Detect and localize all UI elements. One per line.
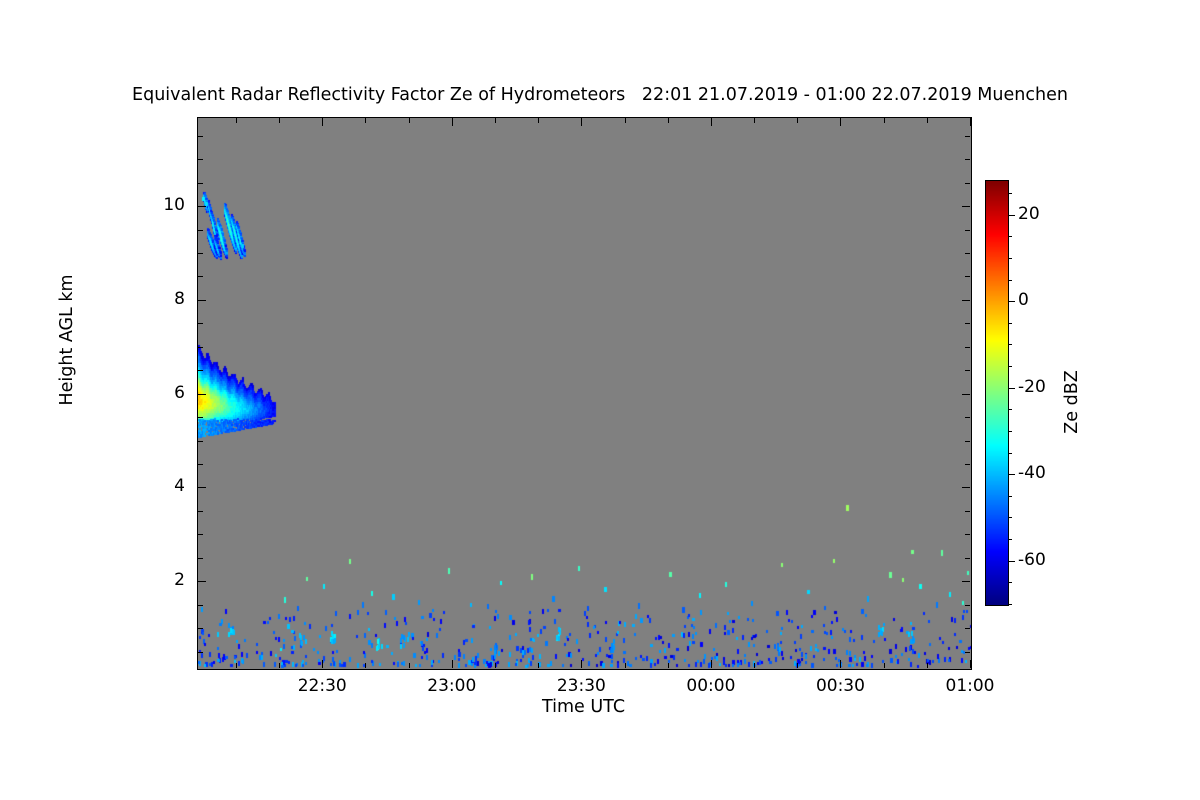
y-tick-minor-right [965,511,970,512]
colorbar-tick-minor [1008,409,1012,410]
x-tick-minor [495,663,496,668]
y-tick-minor [198,230,203,231]
colorbar-tick-minor [1008,366,1012,367]
colorbar-tick-major [1008,215,1015,216]
y-tick-minor-right [965,605,970,606]
x-tick-major-top [970,118,971,126]
colorbar-tick-minor [1008,280,1012,281]
colorbar-tick-major [1008,388,1015,389]
y-tick-label: 4 [5,476,185,496]
y-tick-minor [198,347,203,348]
x-axis-title: Time UTC [197,697,970,717]
x-tick-minor [927,663,928,668]
x-tick-minor [538,663,539,668]
x-tick-minor-top [409,118,410,123]
y-tick-label: 8 [5,289,185,309]
y-tick-minor-right [965,276,970,277]
y-tick-minor-right [965,652,970,653]
x-tick-minor-top [668,118,669,123]
y-tick-minor-right [965,558,970,559]
colorbar-tick-minor [1008,582,1012,583]
y-tick-minor [198,605,203,606]
colorbar [985,180,1009,606]
y-tick-minor-right [965,183,970,184]
colorbar-tick-minor [1008,496,1012,497]
y-tick-major-right [962,487,970,488]
figure-title: Equivalent Radar Reflectivity Factor Ze … [0,85,1200,105]
colorbar-tick-minor [1008,604,1012,605]
y-tick-minor [198,511,203,512]
colorbar-tick-label: -20 [1018,377,1046,397]
colorbar-tick-minor [1008,344,1012,345]
x-tick-label: 00:30 [780,676,900,696]
x-tick-major [840,660,841,668]
y-tick-label: 10 [5,195,185,215]
colorbar-tick-minor [1008,236,1012,237]
colorbar-tick-major [1008,301,1015,302]
y-tick-minor [198,534,203,535]
y-tick-minor [198,370,203,371]
x-tick-major-top [581,118,582,126]
x-tick-minor-top [365,118,366,123]
x-tick-minor-top [927,118,928,123]
x-tick-minor [668,663,669,668]
x-tick-label: 00:00 [651,676,771,696]
x-tick-minor-top [884,118,885,123]
colorbar-tick-major [1008,474,1015,475]
colorbar-tick-minor [1008,193,1012,194]
x-tick-major-top [711,118,712,126]
x-tick-label: 01:00 [910,676,1030,696]
x-tick-minor [625,663,626,668]
y-tick-minor-right [965,464,970,465]
x-tick-major [581,660,582,668]
y-tick-minor-right [965,628,970,629]
y-tick-minor-right [965,417,970,418]
colorbar-tick-label: -60 [1018,550,1046,570]
x-tick-major [970,660,971,668]
x-tick-major [322,660,323,668]
y-tick-minor-right [965,253,970,254]
y-tick-minor [198,558,203,559]
x-tick-minor-top [625,118,626,123]
y-tick-minor-right [965,347,970,348]
plot-area [197,117,972,670]
y-tick-minor [198,276,203,277]
y-tick-minor-right [965,230,970,231]
x-tick-minor-top [797,118,798,123]
x-tick-minor-top [495,118,496,123]
reflectivity-heatmap [198,118,971,669]
y-tick-minor [198,652,203,653]
y-tick-minor [198,464,203,465]
y-tick-label: 6 [5,383,185,403]
x-tick-minor-top [754,118,755,123]
y-tick-minor [198,136,203,137]
y-tick-minor [198,323,203,324]
colorbar-tick-label: 20 [1018,204,1040,224]
colorbar-gradient [986,181,1008,605]
x-tick-minor [365,663,366,668]
x-tick-minor-top [538,118,539,123]
colorbar-tick-minor [1008,431,1012,432]
colorbar-tick-label: -40 [1018,463,1046,483]
y-tick-minor-right [965,159,970,160]
y-tick-minor-right [965,441,970,442]
y-tick-minor-right [965,323,970,324]
y-tick-major [198,394,206,395]
colorbar-tick-minor [1008,453,1012,454]
colorbar-tick-minor [1008,258,1012,259]
colorbar-title: Ze dBZ [1062,302,1082,502]
x-tick-major [452,660,453,668]
y-tick-major-right [962,300,970,301]
x-tick-minor [797,663,798,668]
y-tick-major-right [962,394,970,395]
colorbar-tick-label: 0 [1018,290,1029,310]
colorbar-tick-major [1008,561,1015,562]
x-tick-minor-top [279,118,280,123]
colorbar-tick-minor [1008,539,1012,540]
y-tick-minor-right [965,370,970,371]
x-tick-major-top [840,118,841,126]
x-tick-major-top [452,118,453,126]
y-tick-minor [198,417,203,418]
y-tick-minor [198,628,203,629]
x-tick-major-top [322,118,323,126]
y-tick-minor [198,159,203,160]
y-tick-major [198,581,206,582]
x-tick-major [711,660,712,668]
y-tick-minor-right [965,136,970,137]
x-tick-minor-top [236,118,237,123]
y-tick-major-right [962,206,970,207]
colorbar-tick-minor [1008,323,1012,324]
y-tick-major [198,206,206,207]
y-tick-major [198,300,206,301]
x-tick-label: 23:00 [392,676,512,696]
y-tick-label: 2 [5,570,185,590]
y-tick-major-right [962,581,970,582]
y-tick-minor-right [965,534,970,535]
radar-reflectivity-figure: Equivalent Radar Reflectivity Factor Ze … [0,0,1200,800]
colorbar-tick-minor [1008,517,1012,518]
x-tick-minor [236,663,237,668]
y-tick-major [198,487,206,488]
y-tick-minor [198,441,203,442]
y-tick-minor [198,253,203,254]
y-tick-minor [198,183,203,184]
x-tick-minor [884,663,885,668]
x-tick-label: 23:30 [521,676,641,696]
x-tick-minor [409,663,410,668]
y-axis-title: Height AGL km [57,240,77,440]
x-tick-label: 22:30 [262,676,382,696]
x-tick-minor [754,663,755,668]
x-tick-minor [279,663,280,668]
